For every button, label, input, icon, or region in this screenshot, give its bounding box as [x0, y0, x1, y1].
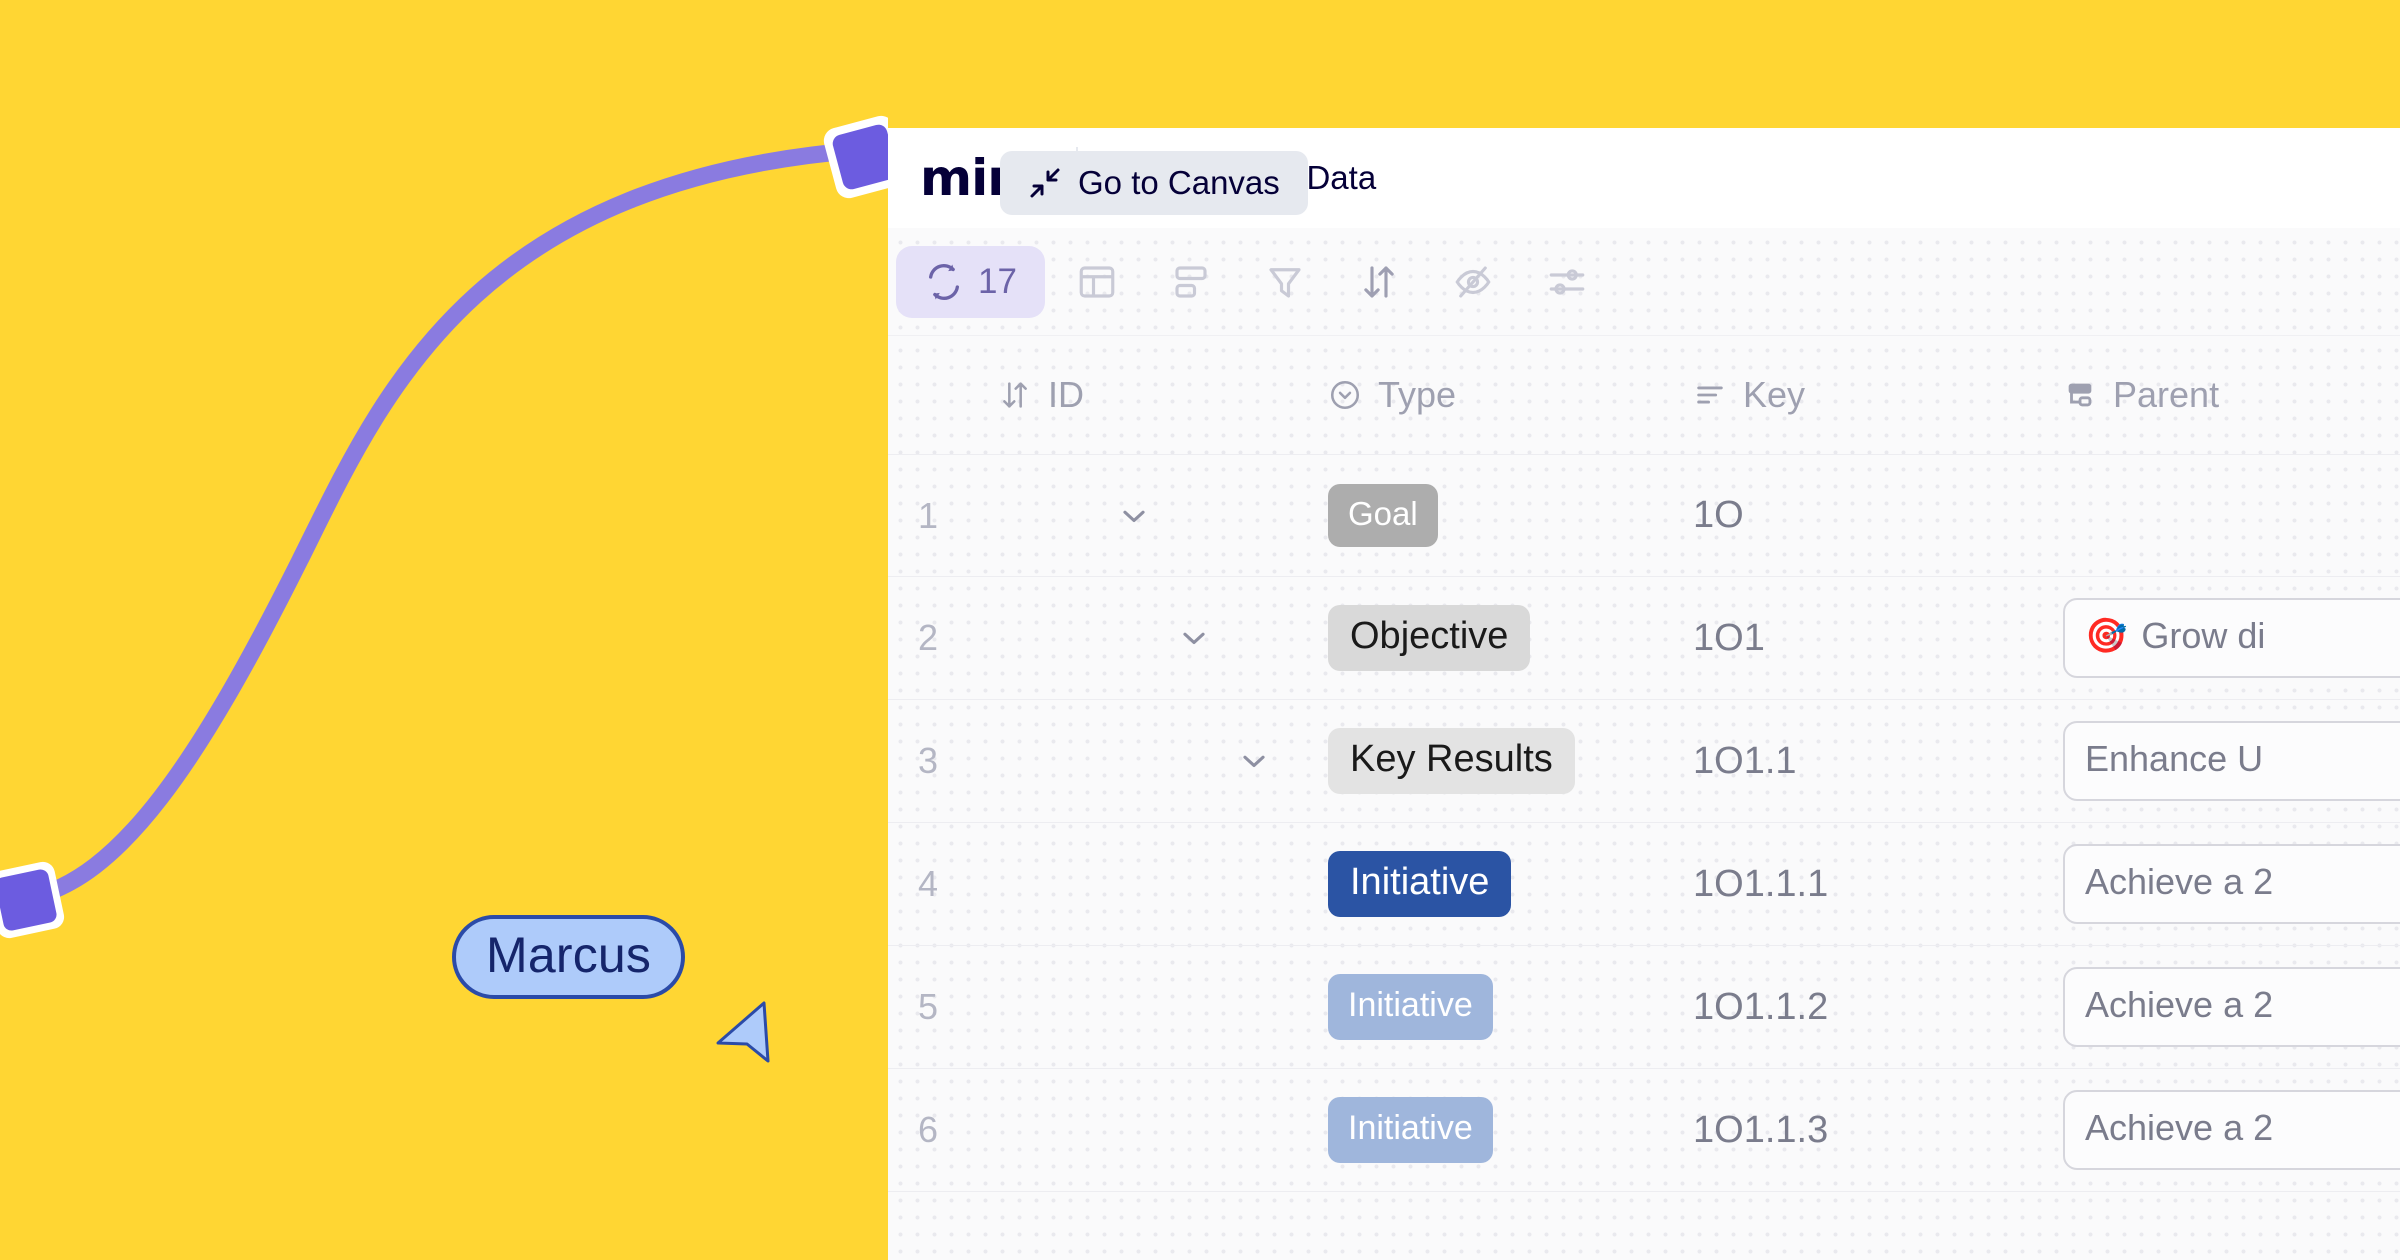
- column-header-type[interactable]: Type: [1328, 374, 1693, 416]
- key-value: 1O1: [1693, 617, 1765, 659]
- parent-cell[interactable]: Achieve a 2: [2063, 844, 2400, 924]
- sort-icon: [1358, 261, 1400, 303]
- chevron-down-icon[interactable]: [1236, 743, 1272, 779]
- parent-reference-pill[interactable]: Achieve a 2: [2063, 844, 2400, 924]
- column-header-parent[interactable]: Parent: [2063, 374, 2400, 416]
- parent-reference-pill[interactable]: Enhance U: [2063, 721, 2400, 801]
- collaborator-cursor-pointer: [712, 995, 772, 1065]
- row-number-cell: 5: [888, 986, 998, 1028]
- text-lines-icon: [1693, 378, 1727, 412]
- row-number: 1: [918, 495, 938, 536]
- table-row[interactable]: 5Initiative1O1.1.2Achieve a 2: [888, 946, 2400, 1069]
- go-to-canvas-button[interactable]: Go to Canvas: [1000, 151, 1308, 215]
- parent-label: Enhance U: [2085, 738, 2263, 780]
- type-cell[interactable]: Key Results: [1328, 728, 1693, 794]
- collapse-arrows-icon: [1028, 166, 1062, 200]
- parent-reference-pill[interactable]: Achieve a 2: [2063, 967, 2400, 1047]
- chevron-down-icon[interactable]: [1116, 498, 1152, 534]
- parent-label: Achieve a 2: [2085, 984, 2273, 1026]
- type-badge: Key Results: [1328, 728, 1575, 794]
- type-cell[interactable]: Initiative: [1328, 974, 1693, 1040]
- layout-columns-button[interactable]: [1055, 244, 1139, 320]
- row-number-cell: 2: [888, 617, 998, 659]
- canvas-connector-graphic: [0, 0, 888, 1260]
- key-value: 1O1.1.1: [1693, 863, 1828, 905]
- parent-reference-pill[interactable]: Achieve a 2: [2063, 1090, 2400, 1170]
- hide-fields-button[interactable]: [1431, 244, 1515, 320]
- connector-endpoint-end: [821, 113, 888, 201]
- parent-label: Achieve a 2: [2085, 861, 2273, 903]
- key-value: 1O: [1693, 494, 1744, 536]
- connector-path: [28, 150, 862, 898]
- key-value: 1O1.1.3: [1693, 1109, 1828, 1151]
- type-cell[interactable]: Initiative: [1328, 851, 1693, 917]
- panel-header: miro Portfolio Data Go to Canvas: [888, 128, 2400, 228]
- row-number: 6: [918, 1109, 938, 1150]
- type-badge: Objective: [1328, 605, 1530, 671]
- parent-cell[interactable]: Achieve a 2: [2063, 1090, 2400, 1170]
- row-number: 4: [918, 863, 938, 904]
- chevron-down-icon[interactable]: [1176, 620, 1212, 656]
- group-rows-icon: [1170, 261, 1212, 303]
- target-emoji-icon: 🎯: [2085, 619, 2127, 653]
- relation-card-icon: [2063, 378, 2097, 412]
- key-cell[interactable]: 1O1.1: [1693, 740, 2063, 783]
- table-row[interactable]: 1Goal1O: [888, 454, 2400, 577]
- settings-sliders-icon: [1546, 261, 1588, 303]
- portfolio-table: ID Type Key: [888, 336, 2400, 1260]
- parent-label: Achieve a 2: [2085, 1107, 2273, 1149]
- settings-sliders-button[interactable]: [1525, 244, 1609, 320]
- hide-fields-icon: [1452, 261, 1494, 303]
- filter-icon: [1264, 261, 1306, 303]
- column-header-key-label: Key: [1743, 374, 1805, 416]
- type-badge: Initiative: [1328, 1097, 1493, 1163]
- column-header-parent-label: Parent: [2113, 374, 2219, 416]
- type-cell[interactable]: Goal: [1328, 484, 1693, 547]
- key-cell[interactable]: 1O: [1693, 494, 2063, 537]
- column-header-id-label: ID: [1048, 374, 1084, 416]
- parent-label: Grow di: [2141, 615, 2265, 657]
- row-number: 2: [918, 617, 938, 658]
- column-header-id[interactable]: ID: [998, 374, 1328, 416]
- sync-count: 17: [978, 262, 1017, 302]
- collaborator-name: Marcus: [486, 927, 651, 983]
- connector-endpoint-start: [0, 860, 66, 941]
- portfolio-data-panel: miro Portfolio Data Go to Canvas: [888, 128, 2400, 1260]
- key-cell[interactable]: 1O1.1.1: [1693, 863, 2063, 906]
- row-number-cell: 1: [888, 495, 998, 537]
- type-badge: Initiative: [1328, 851, 1511, 917]
- key-cell[interactable]: 1O1.1.2: [1693, 986, 2063, 1029]
- table-header-row: ID Type Key: [888, 336, 2400, 454]
- table-row[interactable]: 6Initiative1O1.1.3Achieve a 2: [888, 1069, 2400, 1192]
- collaborator-cursor-label: Marcus: [452, 915, 685, 999]
- parent-cell[interactable]: 🎯Grow di: [2063, 598, 2400, 678]
- parent-cell[interactable]: Achieve a 2: [2063, 967, 2400, 1047]
- type-cell[interactable]: Initiative: [1328, 1097, 1693, 1163]
- type-badge: Initiative: [1328, 974, 1493, 1040]
- row-number-cell: 6: [888, 1109, 998, 1151]
- table-body: 1Goal1O2Objective1O1🎯Grow di3Key Results…: [888, 454, 2400, 1192]
- sort-icon: [998, 378, 1032, 412]
- parent-cell[interactable]: Enhance U: [2063, 721, 2400, 801]
- select-circle-icon: [1328, 378, 1362, 412]
- key-value: 1O1.1: [1693, 740, 1797, 782]
- sync-icon: [924, 262, 964, 302]
- row-number: 3: [918, 740, 938, 781]
- filter-button[interactable]: [1243, 244, 1327, 320]
- key-cell[interactable]: 1O1: [1693, 617, 2063, 660]
- group-rows-button[interactable]: [1149, 244, 1233, 320]
- column-header-type-label: Type: [1378, 374, 1456, 416]
- column-header-key[interactable]: Key: [1693, 374, 2063, 416]
- row-number: 5: [918, 986, 938, 1027]
- type-badge: Goal: [1328, 484, 1438, 547]
- table-row[interactable]: 2Objective1O1🎯Grow di: [888, 577, 2400, 700]
- sort-button[interactable]: [1337, 244, 1421, 320]
- go-to-canvas-label: Go to Canvas: [1078, 164, 1280, 202]
- layout-columns-icon: [1076, 261, 1118, 303]
- parent-reference-pill[interactable]: 🎯Grow di: [2063, 598, 2400, 678]
- type-cell[interactable]: Objective: [1328, 605, 1693, 671]
- table-toolbar: 17: [888, 228, 2400, 336]
- table-row[interactable]: 4Initiative1O1.1.1Achieve a 2: [888, 823, 2400, 946]
- row-number-cell: 4: [888, 863, 998, 905]
- key-value: 1O1.1.2: [1693, 986, 1828, 1028]
- key-cell[interactable]: 1O1.1.3: [1693, 1109, 2063, 1152]
- row-number-cell: 3: [888, 740, 998, 782]
- sync-button[interactable]: 17: [896, 246, 1045, 318]
- table-row[interactable]: 3Key Results1O1.1Enhance U: [888, 700, 2400, 823]
